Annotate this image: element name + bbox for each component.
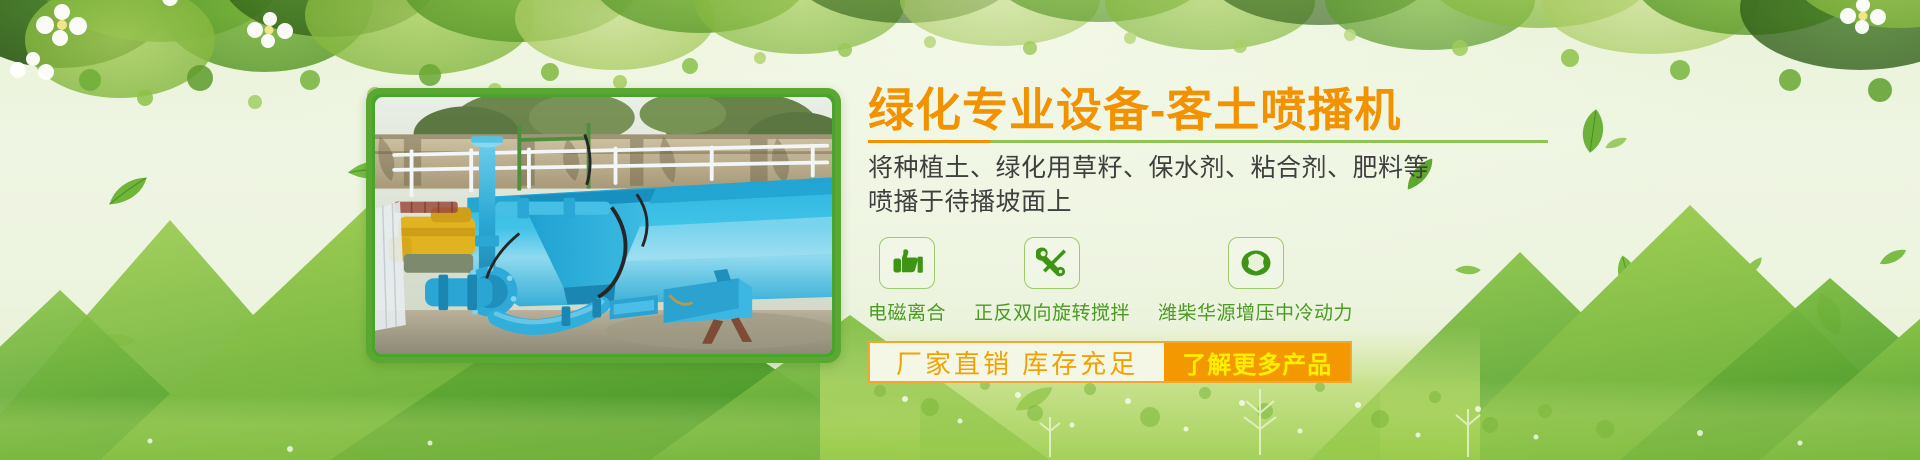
cta-slogan: 厂家直销 库存充足 xyxy=(870,343,1164,381)
thumbs-up-icon xyxy=(890,248,924,278)
tools-icon xyxy=(1036,247,1068,279)
subtitle-line-2: 喷播于待播坡面上 xyxy=(868,186,1668,220)
feature-item-bidirectional-mixing: 正反双向旋转搅拌 xyxy=(974,237,1130,325)
feature-icon-box xyxy=(1228,237,1284,289)
feature-label: 潍柴华源增压中冷动力 xyxy=(1158,298,1353,325)
feature-icon-box xyxy=(879,237,935,289)
product-photo-frame[interactable] xyxy=(366,88,841,363)
gear-ring-icon xyxy=(1239,247,1273,279)
feature-icon-box xyxy=(1024,237,1080,289)
feature-list: 电磁离合 正反双向旋转搅拌 xyxy=(868,237,1668,325)
feature-item-weichai-power: 潍柴华源增压中冷动力 xyxy=(1158,237,1353,325)
feature-label: 正反双向旋转搅拌 xyxy=(974,298,1130,325)
product-photo xyxy=(375,97,832,354)
banner-subtitle: 将种植土、绿化用草籽、保水剂、粘合剂、肥料等 喷播于待播坡面上 xyxy=(868,152,1668,219)
banner-content: 绿化专业设备-客土喷播机 将种植土、绿化用草籽、保水剂、粘合剂、肥料等 喷播于待… xyxy=(868,86,1668,383)
cta-bar: 厂家直销 库存充足 了解更多产品 xyxy=(868,341,1352,383)
learn-more-button[interactable]: 了解更多产品 xyxy=(1164,343,1350,381)
hydroseeder-machine-illustration xyxy=(375,97,832,354)
banner-headline: 绿化专业设备-客土喷播机 xyxy=(868,86,1668,134)
subtitle-line-1: 将种植土、绿化用草籽、保水剂、粘合剂、肥料等 xyxy=(868,152,1668,186)
feature-label: 电磁离合 xyxy=(868,298,946,325)
promo-banner: 绿化专业设备-客土喷播机 将种植土、绿化用草籽、保水剂、粘合剂、肥料等 喷播于待… xyxy=(0,0,1920,460)
feature-item-electromagnetic-clutch: 电磁离合 xyxy=(868,237,946,325)
headline-divider xyxy=(868,140,1548,143)
